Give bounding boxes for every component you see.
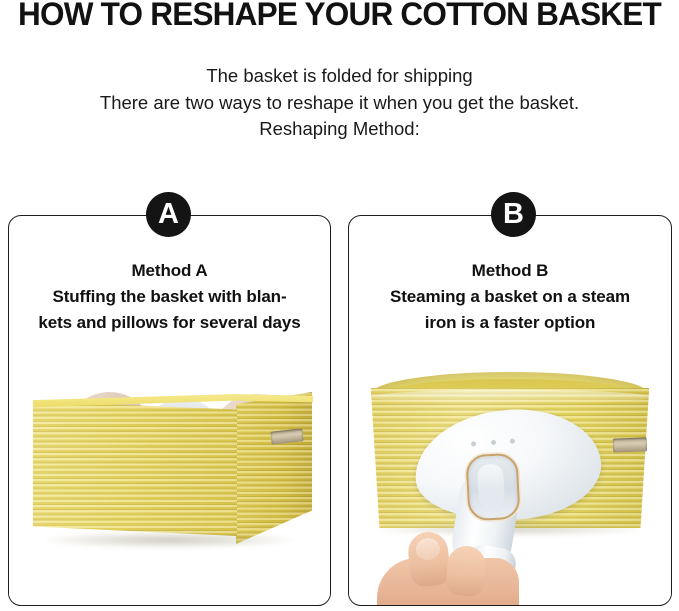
method-a-panel: Method A Stuffing the basket with blan- … (8, 215, 331, 606)
hand-thumb (406, 530, 451, 588)
method-a-desc-2: kets and pillows for several days (15, 310, 324, 336)
steamer-faceplate (465, 453, 520, 522)
method-b-title: Method B (355, 258, 665, 284)
basket-rim-highlight (369, 390, 651, 404)
method-a-heading: Method A Stuffing the basket with blan- … (15, 258, 324, 336)
method-b-photo (349, 336, 671, 605)
steamer-led-3 (510, 438, 515, 443)
method-a-photo (9, 336, 330, 605)
steamer-led-2 (490, 439, 495, 444)
method-a-badge: A (146, 192, 191, 237)
basket-front-panel (33, 400, 237, 536)
cotton-basket-with-blankets (33, 392, 311, 552)
method-a-desc-1: Stuffing the basket with blan- (15, 284, 324, 310)
subtitle-line-3: Reshaping Method: (0, 116, 679, 143)
steamer-led-1 (471, 441, 476, 446)
basket-side-panel (236, 392, 312, 544)
method-b-desc-1: Steaming a basket on a steam (355, 284, 665, 310)
subtitle-line-1: The basket is folded for shipping (0, 63, 679, 90)
subtitle-line-2: There are two ways to reshape it when yo… (0, 90, 679, 117)
method-b-heading: Method B Steaming a basket on a steam ir… (355, 258, 665, 336)
method-b-desc-2: iron is a faster option (355, 310, 665, 336)
method-a-title: Method A (15, 258, 324, 284)
method-b-panel: Method B Steaming a basket on a steam ir… (348, 215, 672, 606)
hand-finger (445, 545, 486, 598)
basket-shadow (47, 532, 292, 548)
method-b-badge: B (491, 192, 536, 237)
hand-holding-steamer (377, 532, 527, 605)
page-title: HOW TO RESHAPE YOUR COTTON BASKET (5, 0, 674, 31)
subtitle-block: The basket is folded for shipping There … (0, 63, 679, 143)
